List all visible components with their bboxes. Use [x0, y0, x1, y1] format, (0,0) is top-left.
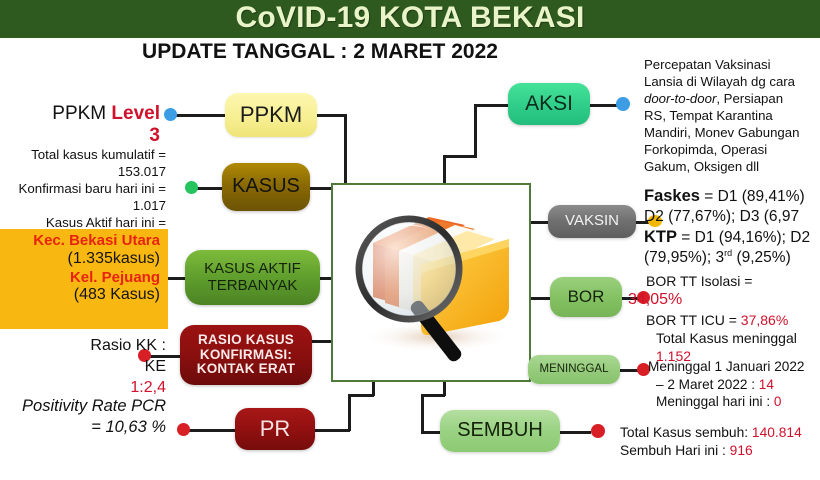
dot-sembuh — [591, 424, 605, 438]
total-sembuh-value: 140.814 — [752, 425, 802, 440]
sembuh-today-label: Sembuh Hari ini : — [620, 443, 730, 458]
wire-aksi-left — [474, 104, 510, 107]
wire-aksi-to-frame — [443, 155, 446, 185]
dot-kasus — [185, 181, 198, 194]
node-ppkm[interactable]: PPKM — [225, 93, 317, 137]
ppkm-level-value: Level 3 — [111, 103, 160, 146]
dot-pr — [177, 423, 190, 436]
bor-stats-text: BOR TT Isolasi = 34,05% BOR TT ICU = 37,… — [628, 272, 820, 366]
wire-aksi-elbow — [443, 155, 477, 158]
wire-pr-up — [348, 394, 351, 431]
sembuh-stats-text: Total Kasus sembuh: 140.814 Sembuh Hari … — [620, 424, 820, 460]
node-rasio-line3: KONTAK ERAT — [197, 362, 295, 377]
faskes-label: Faskes — [644, 187, 700, 205]
wire-ppkm-right — [316, 114, 346, 117]
kasus-aktif-terbanyak-callout: Kec. Bekasi Utara (1.335kasus) Kel. Peju… — [0, 229, 168, 329]
sembuh-today-value: 916 — [730, 443, 753, 458]
wire-ppkm-left — [173, 114, 227, 117]
node-kasus-aktif-line1: KASUS AKTIF — [204, 261, 301, 277]
node-rasio-line2: KONFIRMASI: — [200, 348, 292, 363]
total-sembuh-line: Total Kasus sembuh: 140.814 — [620, 424, 820, 442]
faskes-line: Faskes = D1 (89,41%) — [644, 186, 820, 207]
total-sembuh-label: Total Kasus sembuh: — [620, 425, 752, 440]
ktp-d3-pct: (9,25%) — [732, 249, 791, 266]
aksi-line-4: RS, Tempat Karantina — [644, 107, 820, 124]
total-kasus-meninggal-label: Total Kasus meninggal — [656, 329, 820, 347]
meninggal-period-line: – 2 Maret 2022 : 14 — [656, 376, 820, 394]
ordinal-suffix: rd — [724, 248, 732, 258]
node-bor[interactable]: BOR — [550, 277, 622, 317]
ktp-booster-line: (79,95%); 3rd (9,25%) — [644, 248, 820, 268]
positivity-rate-value: = 10,63 % — [6, 417, 166, 438]
aksi-line-2: Lansia di Wilayah dg cara — [644, 73, 820, 90]
aksi-line-5: Mandiri, Monev Gabungan — [644, 124, 820, 141]
vaksin-stats-text: Faskes = D1 (89,41%) D2 (77,67%); D3 (6,… — [644, 186, 820, 267]
kelurahan-name: Kel. Pejuang — [4, 269, 160, 287]
aksi-line-1: Percepatan Vaksinasi — [644, 56, 820, 73]
meninggal-today-label: Meninggal hari ini : — [656, 394, 774, 409]
folder-magnifier-illustration — [333, 185, 529, 380]
bor-isolasi-value: 34,05% — [628, 290, 820, 311]
node-rasio-kasus-konfirmasi[interactable]: RASIO KASUS KONFIRMASI: KONTAK ERAT — [180, 325, 312, 385]
node-aksi[interactable]: AKSI — [508, 83, 590, 125]
infographic-canvas: CoVID-19 KOTA BEKASI UPDATE TANGGAL : 2 … — [0, 0, 820, 480]
node-meninggal[interactable]: MENINGGAL — [528, 355, 620, 384]
wire-ppkm-down — [344, 114, 347, 184]
meninggal-today-line: Meninggal hari ini : 0 — [656, 393, 820, 411]
node-kasus-aktif-line2: TERBANYAK — [208, 278, 298, 294]
wire-pr-elbow — [348, 394, 374, 397]
rasio-kk-ke-text: Rasio KK : KE 1:2,4 — [16, 336, 166, 398]
wire-aksi-down — [474, 104, 477, 157]
node-pr[interactable]: PR — [235, 408, 315, 450]
meninggal-period-end: – 2 Maret 2022 : — [656, 377, 759, 392]
ktp-d1-d2: = D1 (94,16%); D2 — [677, 229, 810, 246]
bor-icu-value: 37,86% — [741, 312, 788, 328]
ppkm-level-label: PPKM Level 3 — [44, 103, 160, 147]
aksi-line-3-rest: , Persiapan — [716, 91, 783, 106]
meninggal-today-value: 0 — [774, 394, 782, 409]
aksi-line-6: Forkopimda, Operasi — [644, 141, 820, 158]
ktp-label: KTP — [644, 228, 677, 246]
positivity-rate-text: Positivity Rate PCR = 10,63 % — [6, 396, 166, 438]
faskes-d1: = D1 (89,41%) — [700, 188, 805, 205]
node-kasus[interactable]: KASUS — [222, 163, 310, 211]
wire-aksi-right — [589, 104, 617, 107]
ppkm-prefix: PPKM — [52, 103, 111, 124]
page-title: CoVID-19 KOTA BEKASI — [0, 0, 820, 39]
wire-pr-left — [188, 429, 236, 432]
wire-kasus-right — [309, 187, 331, 190]
aksi-door-to-door-em: door-to-door — [644, 91, 716, 106]
bor-icu-line: BOR TT ICU = 37,86% — [646, 311, 820, 329]
ktp-line: KTP = D1 (94,16%); D2 — [644, 227, 820, 248]
wire-sembuh-up — [421, 394, 424, 433]
konfirmasi-baru-value: 1.017 — [8, 197, 166, 214]
rasio-kk-label: Rasio KK : — [16, 336, 166, 357]
aksi-line-3: door-to-door, Persiapan — [644, 90, 820, 107]
central-image-frame — [331, 183, 531, 382]
meninggal-period-value: 14 — [759, 377, 774, 392]
node-vaksin[interactable]: VAKSIN — [548, 205, 636, 238]
faskes-d2-d3: D2 (77,67%); D3 (6,97 — [644, 207, 820, 227]
konfirmasi-baru-label: Konfirmasi baru hari ini = — [8, 180, 166, 197]
kelurahan-cases: (483 Kasus) — [4, 286, 160, 305]
kecamatan-cases: (1.335kasus) — [4, 250, 160, 269]
sembuh-today-line: Sembuh Hari ini : 916 — [620, 442, 820, 460]
ktp-d2-pct: (79,95%); 3 — [644, 249, 724, 266]
wire-sembuh-elbow — [421, 394, 445, 397]
bor-icu-label: BOR TT ICU = — [646, 312, 741, 328]
meninggal-stats-text: Meninggal 1 Januari 2022 – 2 Maret 2022 … — [628, 358, 820, 411]
dot-aksi — [616, 97, 630, 111]
wire-sembuh-right — [558, 431, 591, 434]
node-rasio-line1: RASIO KASUS — [198, 333, 294, 348]
meninggal-period-label: Meninggal 1 Januari 2022 — [648, 358, 820, 376]
update-date-subtitle: UPDATE TANGGAL : 2 MARET 2022 — [0, 40, 640, 64]
kecamatan-name: Kec. Bekasi Utara — [4, 232, 160, 250]
wire-kasus-left — [196, 187, 224, 190]
node-sembuh[interactable]: SEMBUH — [440, 410, 560, 452]
aksi-line-7: Gakum, Oksigen dll — [644, 158, 820, 175]
node-kasus-aktif-terbanyak[interactable]: KASUS AKTIF TERBANYAK — [185, 250, 320, 305]
bor-isolasi-label: BOR TT Isolasi = — [646, 272, 752, 290]
dot-ppkm — [164, 108, 177, 121]
wire-pr-right — [314, 429, 350, 432]
kasus-kumulatif-label: Total kasus kumulatif = — [8, 146, 166, 163]
aksi-description-text: Percepatan Vaksinasi Lansia di Wilayah d… — [644, 56, 820, 175]
kasus-kumulatif-value: 153.017 — [8, 163, 166, 180]
rasio-ke-label: KE — [16, 357, 166, 378]
positivity-rate-label: Positivity Rate PCR — [6, 396, 166, 417]
wire-kasusaktif-left — [168, 277, 186, 280]
